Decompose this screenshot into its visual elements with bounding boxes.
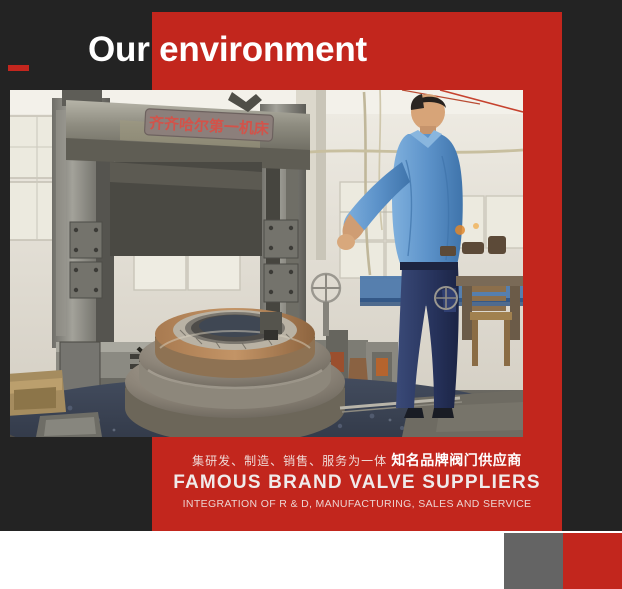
our-environment-section: Our environment [0,0,622,589]
factory-workshop-photo: 齐齐哈尔第一机床 [10,90,523,437]
decorative-red-block [563,533,622,589]
caption-chinese-lead: 集研发、制造、销售、服务为一体 [192,454,387,468]
caption-block: 集研发、制造、销售、服务为一体 知名品牌阀门供应商 FAMOUS BRAND V… [152,450,562,512]
page-title: Our environment [88,26,367,74]
crate-shape [10,370,66,416]
red-accent-dash-icon [8,65,29,71]
workshop-photo-illustration: 齐齐哈尔第一机床 [10,90,523,437]
caption-english-subline: INTEGRATION OF R & D, MANUFACTURING, SAL… [152,497,562,512]
caption-chinese-line: 集研发、制造、销售、服务为一体 知名品牌阀门供应商 [152,450,562,471]
caption-english-headline: FAMOUS BRAND VALVE SUPPLIERS [152,471,562,494]
caption-chinese-main: 知名品牌阀门供应商 [391,452,522,468]
fan-shape-2 [435,287,457,309]
decorative-gray-block [504,533,563,589]
